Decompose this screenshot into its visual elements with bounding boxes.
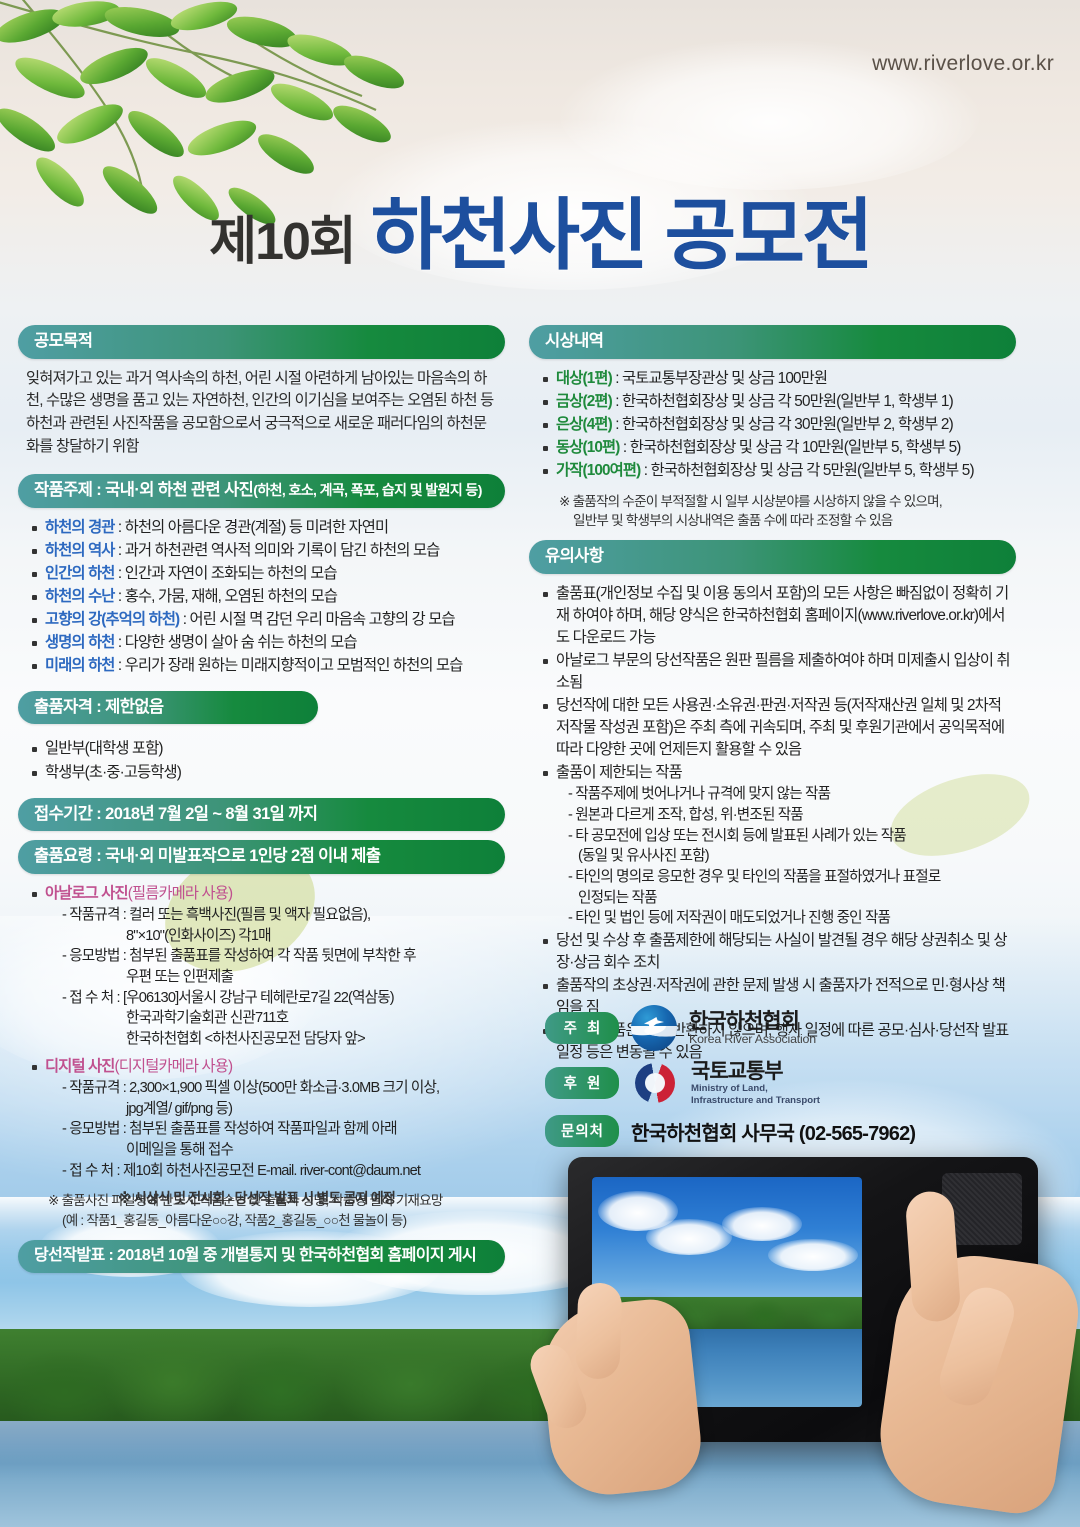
theme-heading-sub: (하천, 호소, 계곡, 폭포, 습지 및 발원지 등) [253, 482, 482, 498]
restricted-item-3-text: - 타 공모전에 입상 또는 전시회 등에 발표된 사례가 있는 작품 [568, 828, 906, 844]
list-item: 인간의 하천 : 인간과 자연이 조화되는 하천의 모습 [32, 563, 501, 585]
award-sep: : [612, 393, 622, 410]
host-org-ko: 한국하천협회 [689, 1010, 816, 1033]
analog-label-sub: (필름카메라 사용) [128, 885, 232, 902]
award-sep: : [612, 416, 622, 433]
section-header-submission: 출품요령 : 국내·외 미발표작으로 1인당 2점 이내 제출 [18, 840, 505, 874]
theme-list: 하천의 경관 : 하천의 아름다운 경관(계절) 등 미려한 자연미 하천의 역… [18, 517, 505, 677]
list-item: 생명의 하천 : 다양한 생명이 살아 숨 쉬는 하천의 모습 [32, 632, 501, 654]
list-item: 가작(100여편) : 한국하천협회장상 및 상금 각 5만원(일반부 5, 학… [543, 460, 1012, 482]
restricted-item-3-cont: (동일 및 유사사진 포함) [568, 846, 1012, 867]
award-sep: : [640, 462, 650, 479]
list-item: 아날로그 사진(필름카메라 사용) - 작품규격 : 컬러 또는 흑백사진(필름… [32, 883, 501, 1050]
analog-row-1-cont: 8"×10"(인화사이즈) 각1매 [62, 926, 501, 947]
host-row: 주 최 한국하천협회 Korea River Association [545, 1005, 1005, 1051]
left-column: 공모목적 잊혀져가고 있는 과거 역사속의 하천, 어린 시절 아련하게 남아있… [18, 325, 505, 1282]
website-url: www.riverlove.or.kr [872, 52, 1054, 76]
analog-row-2-label: - 응모방법 : [62, 948, 129, 964]
awards-note-line-1: ※ 출품작의 수준이 부적절할 시 일부 시상분야를 시상하지 않을 수 있으며… [559, 492, 1006, 511]
list-item: 은상(4편) : 한국하천협회장상 및 상금 각 30만원(일반부 2, 학생부… [543, 414, 1012, 436]
restricted-item-4-cont: 인정되는 작품 [568, 888, 1012, 909]
award-text: 한국하천협회장상 및 상금 각 50만원(일반부 1, 학생부 1) [622, 393, 953, 410]
digital-row-2-cont: 이메일을 통해 접수 [62, 1140, 501, 1161]
digital-row-3-text: 제10회 하천사진공모전 E-mail. river-cont@daum.net [123, 1163, 420, 1179]
theme-sep: : [115, 657, 125, 674]
digital-row-1: - 작품규격 : 2,300×1,900 픽셀 이상(500만 화소급·3.0M… [45, 1078, 501, 1119]
digital-row-2-label: - 응모방법 : [62, 1121, 129, 1137]
ministry-taegeuk-logo-icon [631, 1059, 679, 1107]
theme-text: 하천의 아름다운 경관(계절) 등 미려한 자연미 [125, 519, 389, 536]
digital-row-3-label: - 접 수 처 : [62, 1163, 123, 1179]
award-text: 한국하천협회장상 및 상금 각 5만원(일반부 5, 학생부 5) [651, 462, 974, 479]
eligibility-list: 일반부(대학생 포함) 학생부(초·중·고등학생) [18, 738, 505, 783]
footer-logos: 주 최 한국하천협회 Korea River Association 후 원 국… [545, 1005, 1005, 1155]
theme-text: 어린 시절 멱 감던 우리 마음속 고향의 강 모습 [190, 611, 455, 628]
list-item: 당선 및 수상 후 출품제한에 해당되는 사실이 발견될 경우 해당 상권취소 … [543, 930, 1012, 974]
theme-text: 우리가 장래 원하는 미래지향적이고 모범적인 하천의 모습 [125, 657, 463, 674]
korea-river-association-logo-icon [631, 1005, 677, 1051]
award-sep: : [619, 439, 629, 456]
restricted-item-5: - 타인 및 법인 등에 저작권이 매도되었거나 진행 중인 작품 [556, 908, 1012, 929]
award-key: 대상(1편) [556, 370, 612, 387]
section-header-announcement: 당선작발표 : 2018년 10월 중 개별통지 및 한국하천협회 홈페이지 게… [18, 1240, 505, 1273]
theme-key: 고향의 강(추억의 하천) [45, 611, 179, 628]
contact-info: 한국하천협회 사무국 (02-565-7962) [631, 1117, 915, 1146]
analog-row-1-text: 컬러 또는 흑백사진(필름 및 액자 필요없음), [129, 907, 370, 923]
theme-sep: : [115, 565, 125, 582]
analog-section: 아날로그 사진(필름카메라 사용) - 작품규격 : 컬러 또는 흑백사진(필름… [18, 883, 505, 1050]
sponsor-org-ko: 국토교통부 [691, 1060, 820, 1083]
restricted-item-2-text: - 원본과 다르게 조작, 합성, 위·변조된 작품 [568, 807, 803, 823]
theme-text: 홍수, 가뭄, 재해, 오염된 하천의 모습 [125, 588, 337, 605]
list-item: 출품표(개인정보 수집 및 이용 동의서 포함)의 모든 사항은 빠짐없이 정확… [543, 583, 1012, 649]
bird-icon [644, 1017, 664, 1029]
notices-list: 출품표(개인정보 수집 및 이용 동의서 포함)의 모든 사항은 빠짐없이 정확… [529, 583, 1016, 1064]
award-text: 한국하천협회장상 및 상금 각 10만원(일반부 5, 학생부 5) [630, 439, 961, 456]
award-key: 은상(4편) [556, 416, 612, 433]
theme-text: 인간과 자연이 조화되는 하천의 모습 [125, 565, 337, 582]
restricted-label: 출품이 제한되는 작품 [556, 764, 682, 781]
taegeuk-center [645, 1073, 665, 1093]
theme-key: 생명의 하천 [45, 634, 115, 651]
restricted-item-3: - 타 공모전에 입상 또는 전시회 등에 발표된 사례가 있는 작품 (동일 … [556, 826, 1012, 867]
list-item: 대상(1편) : 국토교통부장관상 및 상금 100만원 [543, 368, 1012, 390]
analog-row-3-text: [우06130]서울시 강남구 테헤란로7길 22(역삼동) [123, 990, 394, 1006]
list-item: 하천의 수난 : 홍수, 가뭄, 재해, 오염된 하천의 모습 [32, 586, 501, 608]
list-item: 미래의 하천 : 우리가 장래 원하는 미래지향적이고 모범적인 하천의 모습 [32, 655, 501, 677]
list-item: 아날로그 부문의 당선작품은 원판 필름을 제출하여야 하며 미제출시 입상이 … [543, 650, 1012, 694]
digital-row-3: - 접 수 처 : 제10회 하천사진공모전 E-mail. river-con… [45, 1161, 501, 1182]
award-text: 한국하천협회장상 및 상금 각 30만원(일반부 2, 학생부 2) [622, 416, 953, 433]
sponsor-org-en-1: Ministry of Land, [691, 1083, 820, 1095]
sponsor-org-text: 국토교통부 Ministry of Land, Infrastructure a… [691, 1060, 820, 1107]
theme-key: 인간의 하천 [45, 565, 115, 582]
title-edition: 제10회 [209, 216, 355, 274]
digital-row-2: - 응모방법 : 첨부된 출품표를 작성하여 작품파일과 함께 아래 이메일을 … [45, 1119, 501, 1160]
poster-title: 제10회 하천사진 공모전 [0, 196, 1080, 274]
analog-row-3-cont2: 한국하천협회 <하천사진공모전 담당자 앞> [62, 1029, 501, 1050]
award-sep: : [612, 370, 622, 387]
theme-key: 하천의 역사 [45, 542, 115, 559]
host-org-text: 한국하천협회 Korea River Association [689, 1010, 816, 1047]
sponsor-label: 후 원 [545, 1067, 619, 1099]
analog-row-2: - 응모방법 : 첨부된 출품표를 작성하여 각 작품 뒷면에 부착한 후 우편… [45, 946, 501, 987]
host-org-en: Korea River Association [689, 1033, 816, 1047]
theme-key: 미래의 하천 [45, 657, 115, 674]
theme-heading-main: 작품주제 : 국내·외 하천 관련 사진 [34, 481, 253, 499]
theme-text: 과거 하천관련 역사적 의미와 기록이 담긴 하천의 모습 [125, 542, 440, 559]
restricted-item-1: - 작품주제에 벗어나거나 규격에 맞지 않는 작품 [556, 784, 1012, 805]
awards-list: 대상(1편) : 국토교통부장관상 및 상금 100만원 금상(2편) : 한국… [529, 368, 1016, 482]
restricted-item-2: - 원본과 다르게 조작, 합성, 위·변조된 작품 [556, 805, 1012, 826]
title-main: 하천사진 공모전 [371, 196, 871, 274]
left-index-finger [575, 1282, 622, 1379]
sponsor-row: 후 원 국토교통부 Ministry of Land, Infrastructu… [545, 1059, 1005, 1107]
list-item: 디지털 사진(디지털카메라 사용) - 작품규격 : 2,300×1,900 픽… [32, 1056, 501, 1182]
list-item: 일반부(대학생 포함) [32, 738, 501, 760]
digital-section: 디지털 사진(디지털카메라 사용) - 작품규격 : 2,300×1,900 픽… [18, 1056, 505, 1182]
award-key: 가작(100여편) [556, 462, 640, 479]
list-item: 금상(2편) : 한국하천협회장상 및 상금 각 50만원(일반부 1, 학생부… [543, 391, 1012, 413]
theme-sep: : [115, 634, 125, 651]
theme-sep: : [115, 542, 125, 559]
sponsor-org-en-2: Infrastructure and Transport [691, 1095, 820, 1107]
section-header-awards: 시상내역 [529, 325, 1016, 359]
theme-key: 하천의 수난 [45, 588, 115, 605]
announcement-note: ※ 시상식 및 전시회 - 당선작 발표 시 별도 공지 예정 [118, 1188, 395, 1208]
digital-row-1-text: 2,300×1,900 픽셀 이상(500만 화소급·3.0MB 크기 이상, [129, 1080, 439, 1096]
theme-key: 하천의 경관 [45, 519, 115, 536]
list-item: 하천의 역사 : 과거 하천관련 역사적 의미와 기록이 담긴 하천의 모습 [32, 540, 501, 562]
awards-note-line-2: 일반부 및 학생부의 시상내역은 출품 수에 따라 조정할 수 있음 [559, 511, 1006, 530]
list-item: 고향의 강(추억의 하천) : 어린 시절 멱 감던 우리 마음속 고향의 강 … [32, 609, 501, 631]
contact-label: 문의처 [545, 1115, 619, 1147]
digital-label: 디지털 사진 [45, 1058, 115, 1075]
restricted-item-1-text: - 작품주제에 벗어나거나 규격에 맞지 않는 작품 [568, 786, 830, 802]
analog-row-2-text: 첨부된 출품표를 작성하여 각 작품 뒷면에 부착한 후 [129, 948, 416, 964]
analog-row-3-cont: 한국과학기술회관 신관711호 [62, 1008, 501, 1029]
analog-label: 아날로그 사진 [45, 885, 128, 902]
list-item: 당선작에 대한 모든 사용권·소유권·판권·저작권 등(저작재산권 일체 및 2… [543, 695, 1012, 761]
theme-text: 다양한 생명이 살아 숨 쉬는 하천의 모습 [125, 634, 357, 651]
digital-row-1-label: - 작품규격 : [62, 1080, 129, 1096]
section-header-period: 접수기간 : 2018년 7월 2일 ~ 8월 31일 까지 [18, 798, 505, 832]
poster-root: ▶ DISP MENU ◀ ▼ ⏱ ✿ www.riverlove.or.kr … [0, 0, 1080, 1527]
award-key: 동상(10편) [556, 439, 619, 456]
analog-row-2-cont: 우편 또는 인편제출 [62, 967, 501, 988]
list-item: 학생부(초·중·고등학생) [32, 762, 501, 784]
section-header-eligibility: 출품자격 : 제한없음 [18, 691, 318, 725]
host-label: 주 최 [545, 1012, 619, 1044]
submission-note-line-2: (예 : 작품1_홍길동_아름다운○○강, 작품2_홍길동_○○천 물놀이 등) [48, 1211, 495, 1230]
theme-sep: : [115, 519, 125, 536]
restricted-item-4: - 타인의 명의로 응모한 경우 및 타인의 작품을 표절하였거나 표절로 인정… [556, 867, 1012, 908]
analog-row-3-label: - 접 수 처 : [62, 990, 123, 1006]
awards-note: ※ 출품작의 수준이 부적절할 시 일부 시상분야를 시상하지 않을 수 있으며… [529, 492, 1016, 531]
theme-sep: : [115, 588, 125, 605]
analog-row-1: - 작품규격 : 컬러 또는 흑백사진(필름 및 액자 필요없음), 8"×10… [45, 905, 501, 946]
theme-sep: : [179, 611, 189, 628]
list-item: 동상(10편) : 한국하천협회장상 및 상금 각 10만원(일반부 5, 학생… [543, 437, 1012, 459]
digital-row-1-cont: jpg계열/ gif/png 등) [62, 1099, 501, 1120]
section-header-purpose: 공모목적 [18, 325, 505, 359]
contact-row: 문의처 한국하천협회 사무국 (02-565-7962) [545, 1115, 1005, 1147]
award-key: 금상(2편) [556, 393, 612, 410]
restricted-item-5-text: - 타인 및 법인 등에 저작권이 매도되었거나 진행 중인 작품 [568, 910, 890, 926]
digital-row-2-text: 첨부된 출품표를 작성하여 작품파일과 함께 아래 [129, 1121, 397, 1137]
section-header-notices: 유의사항 [529, 540, 1016, 574]
purpose-body: 잊혀져가고 있는 과거 역사속의 하천, 어린 시절 아련하게 남아있는 마음속… [18, 368, 505, 459]
analog-row-1-label: - 작품규격 : [62, 907, 129, 923]
analog-row-3: - 접 수 처 : [우06130]서울시 강남구 테헤란로7길 22(역삼동)… [45, 988, 501, 1050]
left-hand [536, 1296, 705, 1501]
digital-label-sub: (디지털카메라 사용) [115, 1058, 233, 1075]
restricted-item-4-text: - 타인의 명의로 응모한 경우 및 타인의 작품을 표절하였거나 표절로 [568, 869, 940, 885]
list-item: 하천의 경관 : 하천의 아름다운 경관(계절) 등 미려한 자연미 [32, 517, 501, 539]
section-header-theme: 작품주제 : 국내·외 하천 관련 사진(하천, 호소, 계곡, 폭포, 습지 … [18, 474, 505, 508]
list-item: 출품이 제한되는 작품 - 작품주제에 벗어나거나 규격에 맞지 않는 작품 -… [543, 762, 1012, 929]
award-text: 국토교통부장관상 및 상금 100만원 [622, 370, 827, 387]
